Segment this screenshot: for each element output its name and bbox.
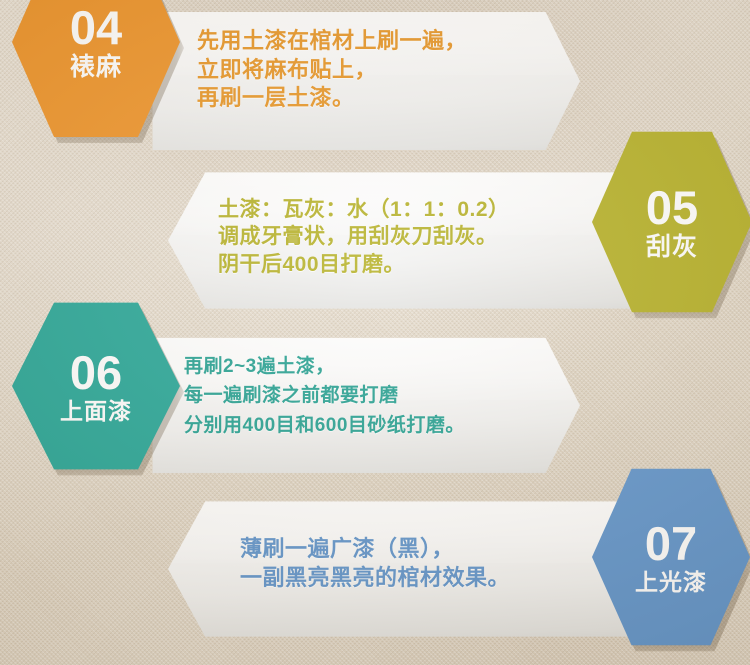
step-caption-07: 上光漆 xyxy=(635,570,707,594)
infographic-canvas: 先用土漆在棺材上刷一遍， 立即将麻布贴上， 再刷一层土漆。 04 裱麻 土漆：瓦… xyxy=(0,0,750,665)
step-row-07: 薄刷一遍广漆（黑）， 一副黑亮黑亮的棺材效果。 07 上光漆 xyxy=(0,0,750,665)
step-body-07: 薄刷一遍广漆（黑）， 一副黑亮黑亮的棺材效果。 xyxy=(240,535,610,592)
step-number-07: 07 xyxy=(645,520,697,567)
